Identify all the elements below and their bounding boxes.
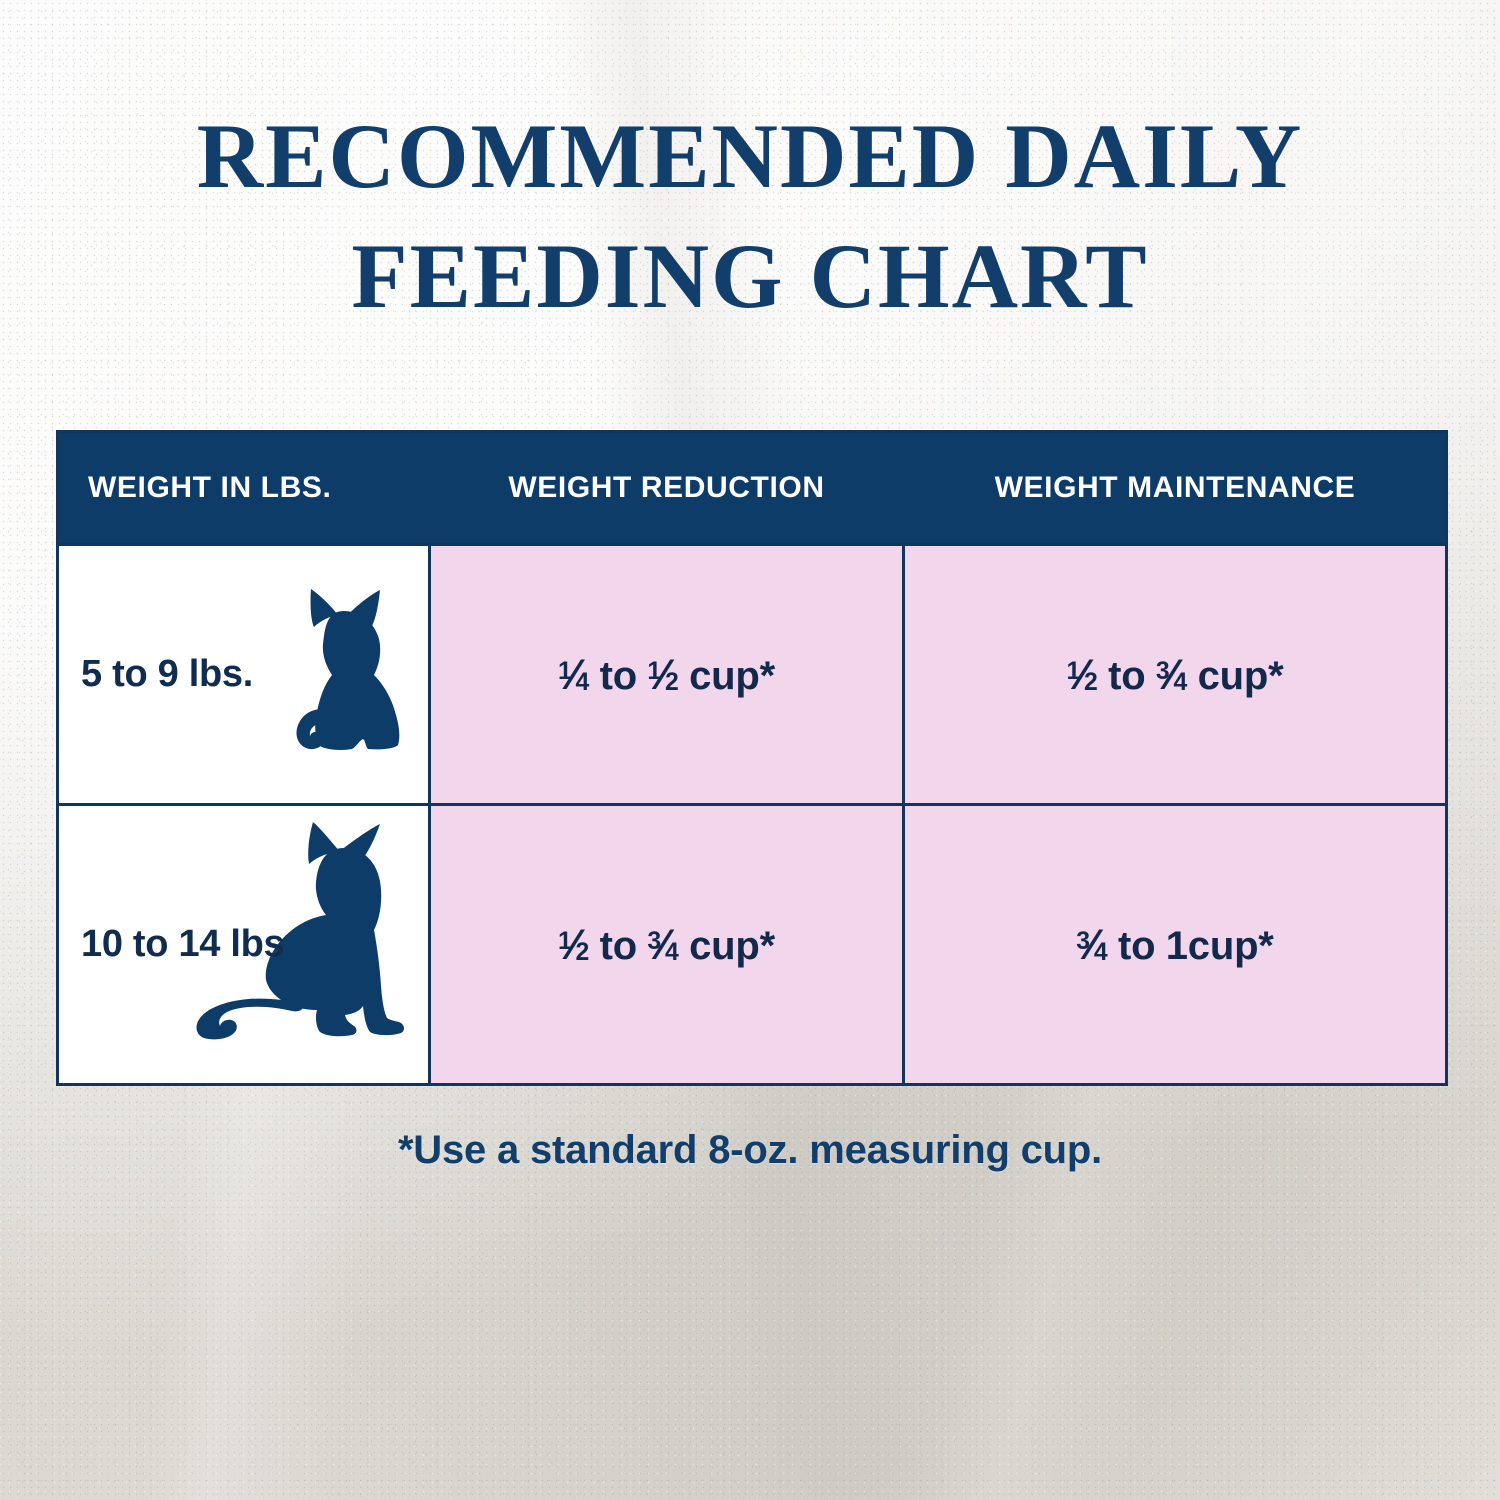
fraction: 1⁄2 [1066, 651, 1097, 699]
table-header-row: WEIGHT IN LBS. WEIGHT REDUCTION WEIGHT M… [59, 433, 1445, 543]
feeding-amount: 1⁄4 to 1⁄2 cup* [558, 651, 775, 699]
column-header-weight: WEIGHT IN LBS. [59, 471, 428, 505]
connector: to [1108, 654, 1145, 699]
unit-label: cup* [689, 654, 775, 699]
weight-reduction-cell: 1⁄4 to 1⁄2 cup* [428, 546, 905, 803]
page-title-line-2: FEEDING CHART [0, 216, 1500, 336]
connector: to [1118, 924, 1155, 969]
feeding-chart-table: WEIGHT IN LBS. WEIGHT REDUCTION WEIGHT M… [56, 430, 1448, 1086]
fraction: 1⁄4 [558, 651, 589, 699]
connector: to [600, 654, 637, 699]
fraction: 1⁄2 [647, 651, 678, 699]
feeding-amount: 1⁄2 to 3⁄4 cup* [558, 921, 775, 969]
table-row: 10 to 14 lbs [59, 803, 1445, 1083]
weight-range-label: 5 to 9 lbs. [81, 653, 253, 696]
page-title-line-1: RECOMMENDED DAILY [0, 96, 1500, 216]
unit-label: cup* [1188, 924, 1274, 969]
weight-maintenance-cell: 1⁄2 to 3⁄4 cup* [905, 546, 1445, 803]
weight-range-label: 10 to 14 lbs [81, 923, 284, 966]
connector: to [600, 924, 637, 969]
column-header-weight-reduction: WEIGHT REDUCTION [428, 471, 905, 505]
unit-label: cup* [689, 924, 775, 969]
page-title: RECOMMENDED DAILY FEEDING CHART [0, 96, 1500, 336]
fraction: 3⁄4 [1076, 921, 1107, 969]
fraction: 3⁄4 [1156, 651, 1187, 699]
weight-cell: 10 to 14 lbs [59, 806, 428, 1083]
fraction: 3⁄4 [647, 921, 678, 969]
weight-maintenance-cell: 3⁄4 to 1 cup* [905, 806, 1445, 1083]
feeding-chart-page: RECOMMENDED DAILY FEEDING CHART WEIGHT I… [0, 0, 1500, 1500]
small-cat-silhouette-icon [264, 581, 414, 761]
whole-number: 1 [1166, 924, 1188, 969]
weight-cell: 5 to 9 lbs. [59, 546, 428, 803]
footnote-text: *Use a standard 8-oz. measuring cup. [0, 1128, 1500, 1173]
unit-label: cup* [1198, 654, 1284, 699]
table-row: 5 to 9 lbs. [59, 543, 1445, 803]
column-header-weight-maintenance: WEIGHT MAINTENANCE [905, 471, 1445, 505]
feeding-amount: 1⁄2 to 3⁄4 cup* [1066, 651, 1283, 699]
weight-reduction-cell: 1⁄2 to 3⁄4 cup* [428, 806, 905, 1083]
fraction: 1⁄2 [558, 921, 589, 969]
feeding-amount: 3⁄4 to 1 cup* [1076, 921, 1273, 969]
